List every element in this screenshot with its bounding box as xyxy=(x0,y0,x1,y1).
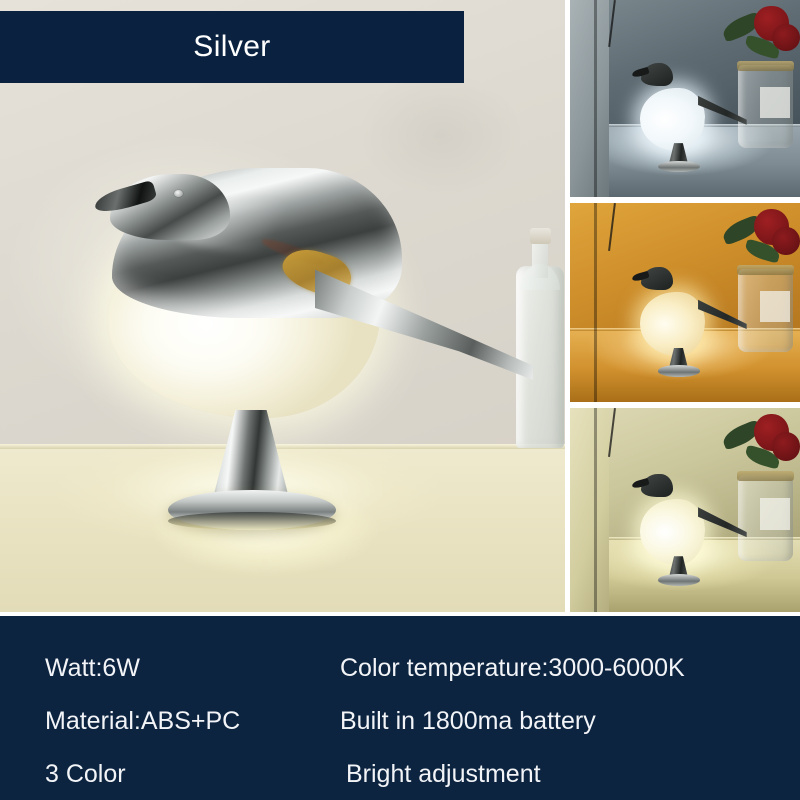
bottle-neck xyxy=(532,238,548,278)
scene-neutral-warm xyxy=(570,408,800,612)
spec-material: Material:ABS+PC xyxy=(45,709,240,734)
thumbnail-column xyxy=(570,0,800,612)
variant-title-banner: Silver xyxy=(0,11,464,83)
bird-lamp-base-rim xyxy=(168,512,336,530)
specification-grid: Watt:6W Material:ABS+PC 3 Color Color te… xyxy=(0,616,800,800)
bird-lamp-thumbnail xyxy=(637,57,743,159)
bird-lamp-eye xyxy=(174,190,183,197)
thumbnail-neutral-warm[interactable] xyxy=(570,408,800,612)
scene-cool-white xyxy=(570,0,800,197)
bottle-cork xyxy=(530,228,551,244)
mini-lamp-base xyxy=(658,161,700,172)
jar-rim xyxy=(737,61,795,71)
specification-panel: Watt:6W Material:ABS+PC 3 Color Color te… xyxy=(0,616,800,800)
jar-label xyxy=(760,498,790,531)
bird-lamp-thumbnail xyxy=(637,467,743,573)
jar-label xyxy=(760,87,790,119)
thumbnail-warm-amber[interactable] xyxy=(570,203,800,402)
bird-lamp-stem xyxy=(212,410,290,502)
red-rose-icon xyxy=(772,227,800,255)
red-rose-icon xyxy=(772,432,800,461)
product-image-composite: Silver xyxy=(0,0,800,800)
spec-battery: Built in 1800ma battery xyxy=(340,709,596,734)
scene-curtain xyxy=(570,203,609,402)
spec-color-temperature: Color temperature:3000-6000K xyxy=(340,656,685,681)
spec-color-count: 3 Color xyxy=(45,762,126,787)
hero-product-photo[interactable]: Silver xyxy=(0,0,565,612)
mini-lamp-base xyxy=(658,365,700,376)
variant-title-label: Silver xyxy=(193,32,270,62)
mini-lamp-base xyxy=(658,574,700,586)
scene-warm-amber xyxy=(570,203,800,402)
bird-lamp-thumbnail xyxy=(637,261,743,364)
scene-curtain xyxy=(570,408,609,612)
bird-lamp-main xyxy=(60,160,530,580)
jar-label xyxy=(760,291,790,323)
jar-rim xyxy=(737,265,795,275)
scene-curtain xyxy=(570,0,609,197)
spec-brightness: Bright adjustment xyxy=(346,762,541,787)
red-rose-icon xyxy=(772,24,800,52)
thumbnail-cool-white[interactable] xyxy=(570,0,800,197)
spec-watt: Watt:6W xyxy=(45,656,140,681)
jar-rim xyxy=(737,471,795,481)
